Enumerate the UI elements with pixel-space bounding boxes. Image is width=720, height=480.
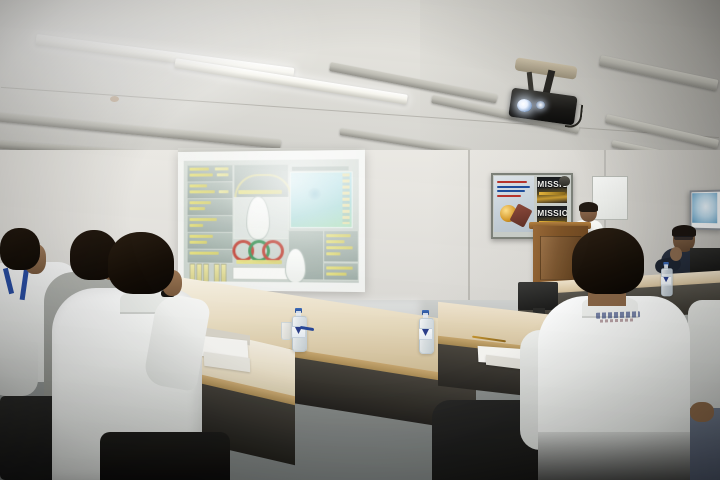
whiteboard [592,176,628,220]
attendee-far-left-arm [0,330,38,396]
simulator-param-label [190,218,217,221]
attendee-foreground-left-trousers [100,432,230,480]
attendee-far-left-head [0,228,40,270]
simulator-param-label [326,252,340,255]
simulator-param-label [190,241,207,244]
classroom-photo: MISSION MISSION [0,0,720,480]
attendee-foreground-right-head [572,228,644,294]
poster-mission-accent [539,192,565,195]
simulator-param-label [190,207,206,210]
simulator-param-label [190,235,213,238]
simulator-param-label [326,240,344,243]
simulator-param-label [190,190,215,193]
poster-text [494,176,534,232]
ceiling-light-glare [0,0,330,150]
simulator-gauge-scale [238,190,282,194]
framed-picture-image [692,193,717,224]
simulator-ship-hull [246,196,270,240]
simulator-param-label [190,184,207,187]
simulator-chart-title [292,166,349,171]
simulator-param-value [217,173,229,176]
simulator-param-value [219,190,229,193]
simulator-param-label [326,246,352,249]
simulator-param-label [190,201,211,204]
drinking-glass [281,322,292,340]
poster-mission-heading: MISSION [537,209,566,218]
simulator-indicator-ring [262,240,284,262]
presenter-hair [579,202,598,212]
simulator-param-value [215,167,229,170]
simulator-param-label [190,224,204,227]
seated-attendee-right-hand [670,247,682,261]
simulator-param-label [190,252,219,255]
simulator-param-label [326,266,352,269]
simulator-param-label [190,168,209,171]
attendee-foreground-right-shadow [538,432,690,480]
projection-screen-surface [184,159,359,283]
eyeglasses-icon [674,236,693,240]
simulator-status-bar [236,260,282,264]
simulator-throttle-lever [214,264,220,283]
simulator-throttle-lever [221,264,227,283]
projector-lens-icon [536,101,545,109]
attendee-foreground-left-head [108,232,174,294]
simulator-param-label [326,272,346,275]
wall-speaker-icon [559,176,570,186]
attendee-right-edge-hand [690,402,714,422]
simulator-chart-sidebar [342,173,349,224]
simulator-chart-target [308,188,321,200]
wall-seam [468,150,470,310]
simulator-throttle-lever [203,264,209,283]
simulator-param-label [190,173,213,176]
simulator-param-label [326,234,350,237]
desktop-monitor [518,282,558,310]
simulator-ship-hull [285,248,306,283]
